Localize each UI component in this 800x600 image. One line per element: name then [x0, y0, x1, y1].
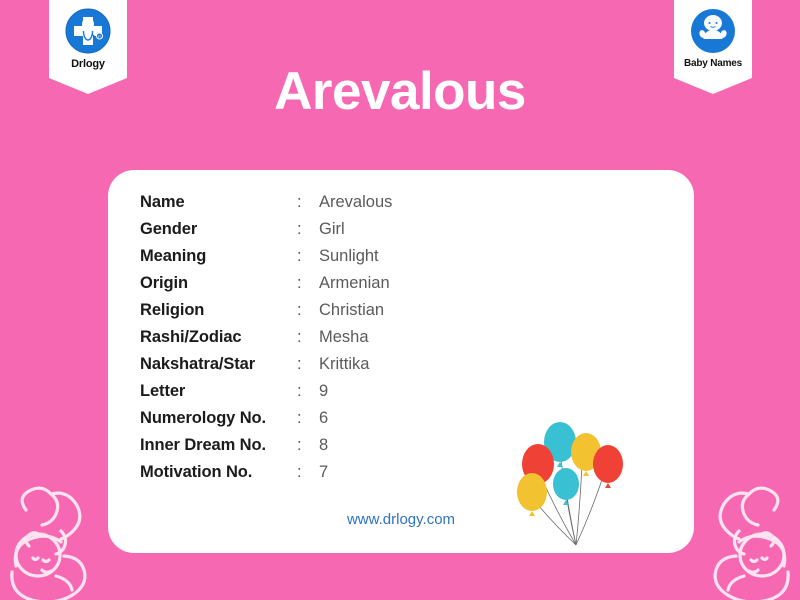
drlogy-medical-cross-icon: P [64, 7, 112, 55]
row-value: Krittika [319, 355, 369, 374]
row-value: Christian [319, 301, 384, 320]
table-row: Numerology No. : 6 [140, 409, 392, 436]
row-separator: : [297, 301, 319, 320]
row-separator: : [297, 355, 319, 374]
website-link[interactable]: www.drlogy.com [108, 511, 694, 528]
row-value: Mesha [319, 328, 369, 347]
table-row: Meaning : Sunlight [140, 247, 392, 274]
row-value: Armenian [319, 274, 390, 293]
row-separator: : [297, 409, 319, 428]
row-label: Numerology No. [140, 409, 297, 428]
row-label: Origin [140, 274, 297, 293]
row-value: 8 [319, 436, 328, 455]
row-label: Nakshatra/Star [140, 355, 297, 374]
table-row: Motivation No. : 7 [140, 463, 392, 490]
table-row: Origin : Armenian [140, 274, 392, 301]
table-row: Inner Dream No. : 8 [140, 436, 392, 463]
table-row: Religion : Christian [140, 301, 392, 328]
row-label: Name [140, 193, 297, 212]
row-separator: : [297, 220, 319, 239]
row-label: Inner Dream No. [140, 436, 297, 455]
row-separator: : [297, 274, 319, 293]
svg-text:P: P [98, 34, 101, 39]
row-label: Letter [140, 382, 297, 401]
row-label: Motivation No. [140, 463, 297, 482]
row-separator: : [297, 247, 319, 266]
name-details-card: Name : Arevalous Gender : Girl Meaning :… [108, 170, 694, 553]
table-row: Nakshatra/Star : Krittika [140, 355, 392, 382]
row-value: 7 [319, 463, 328, 482]
row-separator: : [297, 436, 319, 455]
row-value: Sunlight [319, 247, 379, 266]
row-label: Meaning [140, 247, 297, 266]
row-label: Rashi/Zodiac [140, 328, 297, 347]
mother-and-baby-icon [698, 480, 800, 600]
table-row: Gender : Girl [140, 220, 392, 247]
row-separator: : [297, 463, 319, 482]
table-row: Rashi/Zodiac : Mesha [140, 328, 392, 355]
row-separator: : [297, 193, 319, 212]
table-row: Letter : 9 [140, 382, 392, 409]
row-value: Girl [319, 220, 345, 239]
page-title: Arevalous [0, 64, 800, 120]
name-details-table: Name : Arevalous Gender : Girl Meaning :… [140, 193, 392, 490]
row-separator: : [297, 328, 319, 347]
mother-and-baby-icon [0, 480, 102, 600]
baby-icon [689, 7, 737, 55]
row-value: 6 [319, 409, 328, 428]
row-value: Arevalous [319, 193, 392, 212]
row-value: 9 [319, 382, 328, 401]
table-row: Name : Arevalous [140, 193, 392, 220]
row-label: Gender [140, 220, 297, 239]
row-label: Religion [140, 301, 297, 320]
row-separator: : [297, 382, 319, 401]
